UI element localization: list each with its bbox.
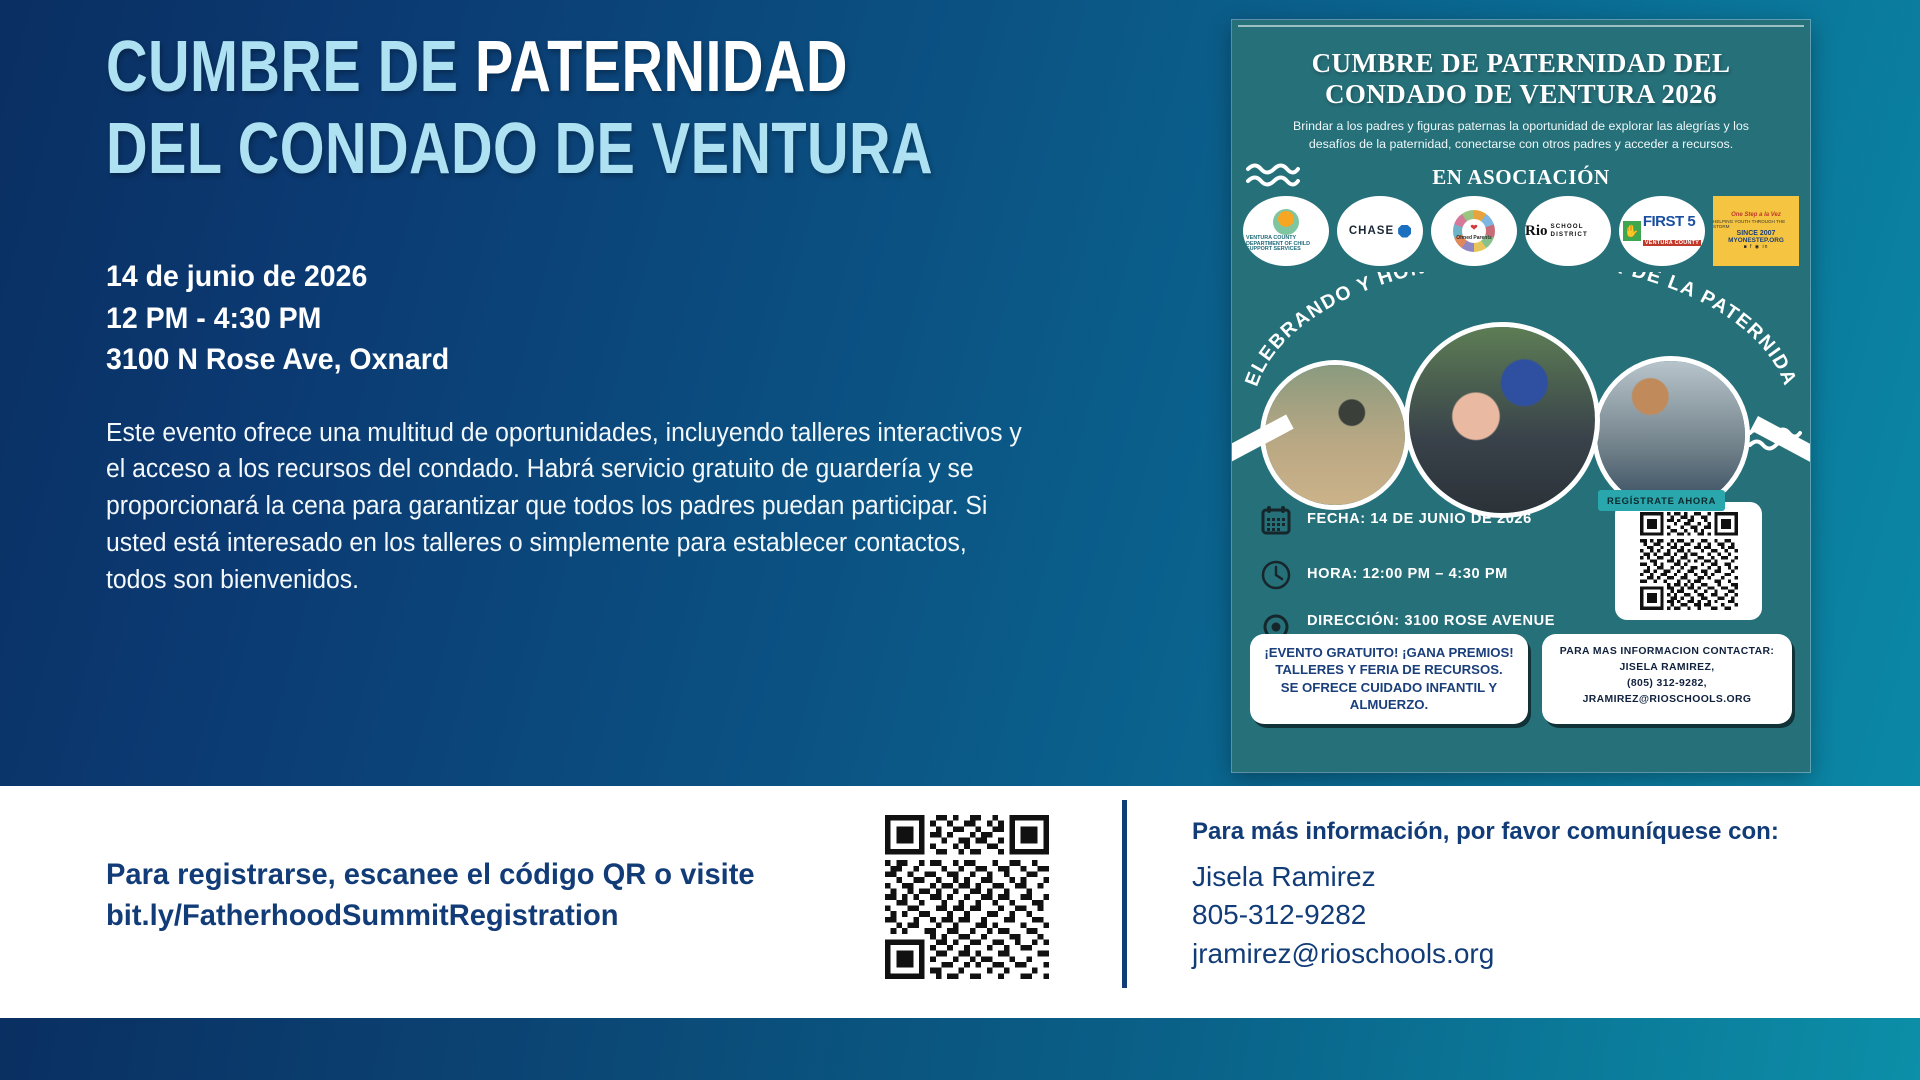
calendar-icon [1258,502,1294,538]
heart-icon: ❤ [1470,222,1478,233]
flyer-title-line2: CONDADO DE VENTURA 2026 [1232,79,1810,110]
flyer-subtitle: Brindar a los padres y figuras paternas … [1276,118,1766,153]
contact-name: Jisela Ramirez [1192,858,1892,896]
partner-logo-one-step-a-la-vez: One Step a la Vez HELPING YOUTH THROUGH … [1713,196,1799,266]
association-heading: EN ASOCIACIÓN [1232,165,1810,190]
event-meta: 14 de junio de 2026 12 PM - 4:30 PM 3100… [106,256,1116,380]
flyer-qr-card[interactable] [1615,502,1762,620]
contact-phone[interactable]: 805-312-9282 [1192,896,1892,934]
detail-text: HORA: 12:00 PM – 4:30 PM [1307,566,1508,582]
partner-logo-first5: ✋ FIRST 5 VENTURA COUNTY [1619,196,1705,266]
partner-since: SINCE 2007 [1737,230,1776,237]
free-event-line: SE OFRECE CUIDADO INFANTIL Y ALMUERZO. [1258,679,1520,714]
contact-block: Para más información, por favor comuníqu… [1192,818,1892,973]
hero-content: CUMBRE DE PATERNIDAD DEL CONDADO DE VENT… [106,34,1116,598]
free-event-line: ¡EVENTO GRATUITO! ¡GANA PREMIOS! [1258,644,1520,661]
partner-logos: VENTURA COUNTY DEPARTMENT OF CHILD SUPPO… [1242,195,1800,267]
contact-line: PARA MAS INFORMACION CONTACTAR: [1550,644,1784,660]
registration-line1: Para registrarse, escanee el código QR o… [106,855,843,896]
clock-icon [1258,557,1294,593]
partner-label: Rio [1525,224,1548,239]
photo-father-children-left [1260,360,1410,510]
partner-logo-chase: CHASE [1337,196,1423,266]
registration-line2[interactable]: bit.ly/FatherhoodSummitRegistration [106,896,843,937]
partner-logo-rio-school-district: RioSCHOOL DISTRICT [1525,196,1611,266]
title-line2: DEL CONDADO DE VENTURA [106,116,914,182]
free-event-line: TALLERES Y FERIA DE RECURSOS. [1258,661,1520,678]
partner-label: Ohned Parents [1431,235,1517,241]
registration-instructions: Para registrarse, escanee el código QR o… [106,855,843,936]
photo-collage [1232,320,1810,480]
hand-icon: ✋ [1623,221,1641,241]
partner-url: MYONESTEP.ORG [1728,237,1784,244]
partner-sublabel: HELPING YOUTH THROUGH THE STORM [1713,219,1799,229]
contact-heading: Para más información, por favor comuníqu… [1192,818,1892,846]
flyer-title-line1: CUMBRE DE PATERNIDAD DEL [1232,48,1810,79]
social-icons: ■ f ◉ in [1744,244,1769,250]
event-address: 3100 N Rose Ave, Oxnard [106,339,1066,380]
footer-divider [1122,800,1127,988]
partner-sublabel: SCHOOL DISTRICT [1551,223,1612,239]
flyer-info-boxes: ¡EVENTO GRATUITO! ¡GANA PREMIOS! TALLERE… [1250,634,1792,724]
event-description: Este evento ofrece una multitud de oport… [106,415,1023,599]
contact-line: (805) 312-9282, [1550,676,1784,692]
hero-panel: CUMBRE DE PATERNIDAD DEL CONDADO DE VENT… [0,0,1920,786]
bottom-accent-bar [0,1018,1920,1080]
partner-label: One Step a la Vez [1731,212,1781,218]
title-line1-part1: CUMBRE DE [106,27,475,107]
partner-label: CHASE [1349,225,1394,237]
partner-sublabel: VENTURA COUNTY [1643,240,1701,246]
qr-code-flyer[interactable] [1640,512,1738,610]
detail-text: DIRECCIÓN: 3100 ROSE AVENUE [1307,613,1555,629]
flyer-top-rule [1238,25,1804,27]
partner-label: FIRST 5 [1643,213,1695,230]
flyer-title: CUMBRE DE PATERNIDAD DEL CONDADO DE VENT… [1232,48,1810,110]
detail-row-time: HORA: 12:00 PM – 4:30 PM [1258,557,1588,593]
free-event-box: ¡EVENTO GRATUITO! ¡GANA PREMIOS! TALLERE… [1250,634,1528,724]
page-title: CUMBRE DE PATERNIDAD DEL CONDADO DE VENT… [106,34,1116,182]
partner-logo-child-support: VENTURA COUNTY DEPARTMENT OF CHILD SUPPO… [1243,196,1329,266]
title-line1-part2: PATERNIDAD [475,27,848,107]
contact-line: JRAMIREZ@RIOSCHOOLS.ORG [1550,692,1784,708]
qr-code-registration[interactable] [885,815,1049,979]
flyer-contact-box: PARA MAS INFORMACION CONTACTAR: JISELA R… [1542,634,1792,724]
chase-octagon-icon [1398,225,1411,238]
partner-label: VENTURA COUNTY DEPARTMENT OF CHILD SUPPO… [1246,235,1310,252]
event-date: 14 de junio de 2026 [106,256,1066,297]
partner-logo-ohned-parents: ❤ Ohned Parents [1431,196,1517,266]
register-now-badge: REGÍSTRATE AHORA [1598,490,1725,511]
poster-page: CUMBRE DE PATERNIDAD DEL CONDADO DE VENT… [0,0,1920,1080]
photo-father-daughter-center [1404,322,1600,518]
contact-email[interactable]: jramirez@rioschools.org [1192,935,1892,973]
contact-line: JISELA RAMIREZ, [1550,660,1784,676]
event-time: 12 PM - 4:30 PM [106,298,1066,339]
event-flyer: CUMBRE DE PATERNIDAD DEL CONDADO DE VENT… [1232,20,1810,772]
